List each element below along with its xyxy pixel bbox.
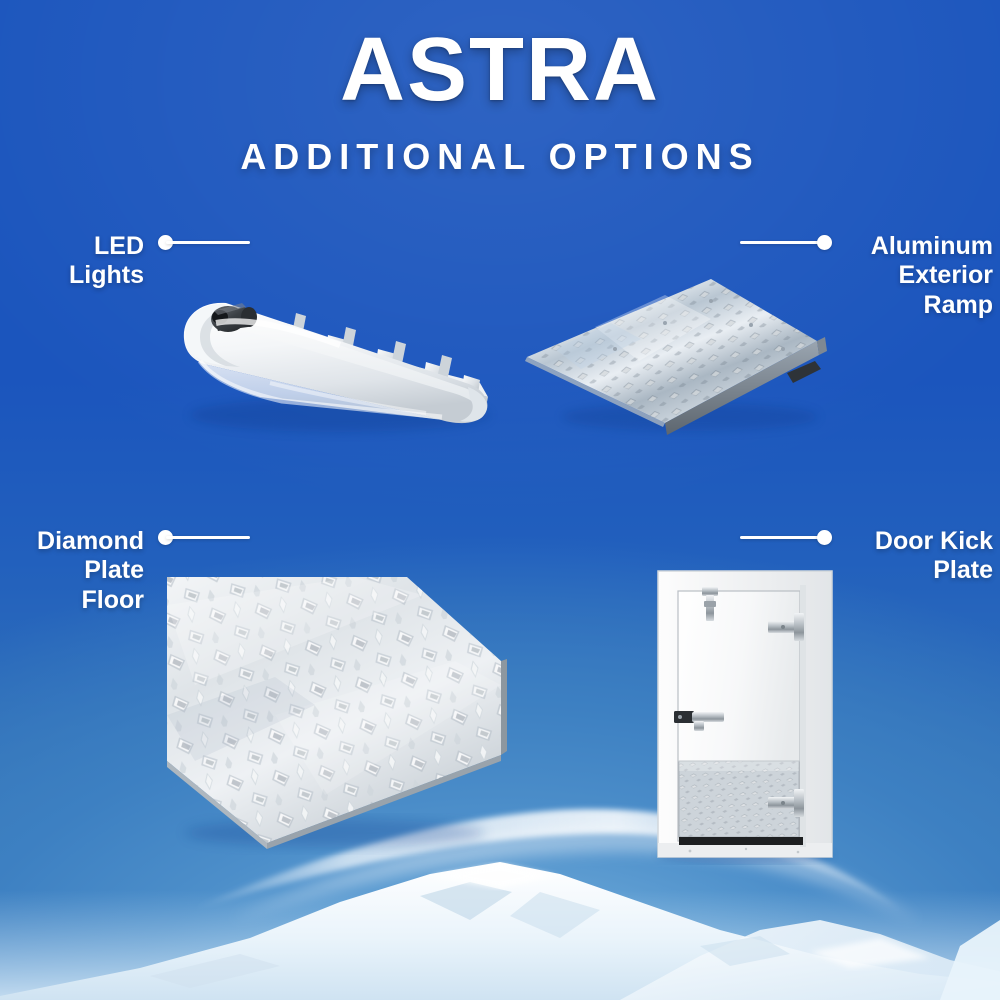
product-image-led-light-fixture [150, 265, 520, 450]
leader-dot-icon [817, 530, 832, 545]
leader-line-icon [740, 536, 824, 539]
callout-label-diamond-plate-floor: Diamond Plate Floor [14, 527, 144, 615]
callout-label-led-lights: LED Lights [14, 232, 144, 291]
callout-label-aluminum-ramp: Aluminum Exterior Ramp [848, 232, 993, 320]
leader-line-icon [166, 241, 250, 244]
callout-diamond-plate-floor: Diamond Plate Floor [14, 527, 250, 615]
header: ASTRA ADDITIONAL OPTIONS [0, 28, 1000, 178]
leader-line-aluminum-ramp [740, 232, 832, 252]
callout-led-lights: LED Lights [14, 232, 250, 291]
callout-door-kick-plate: Door Kick Plate [740, 527, 993, 586]
leader-dot-icon [817, 235, 832, 250]
poster-canvas: ASTRA ADDITIONAL OPTIONS [0, 0, 1000, 1000]
leader-line-led-lights [158, 232, 250, 252]
callout-aluminum-ramp: Aluminum Exterior Ramp [740, 232, 993, 320]
leader-line-icon [740, 241, 824, 244]
page-title: ASTRA [0, 28, 1000, 114]
callout-label-door-kick-plate: Door Kick Plate [848, 527, 993, 586]
leader-line-diamond-plate-floor [158, 527, 250, 547]
leader-line-door-kick-plate [740, 527, 832, 547]
page-subtitle: ADDITIONAL OPTIONS [0, 136, 1000, 178]
leader-line-icon [166, 536, 250, 539]
product-image-cooler-door [650, 565, 840, 865]
